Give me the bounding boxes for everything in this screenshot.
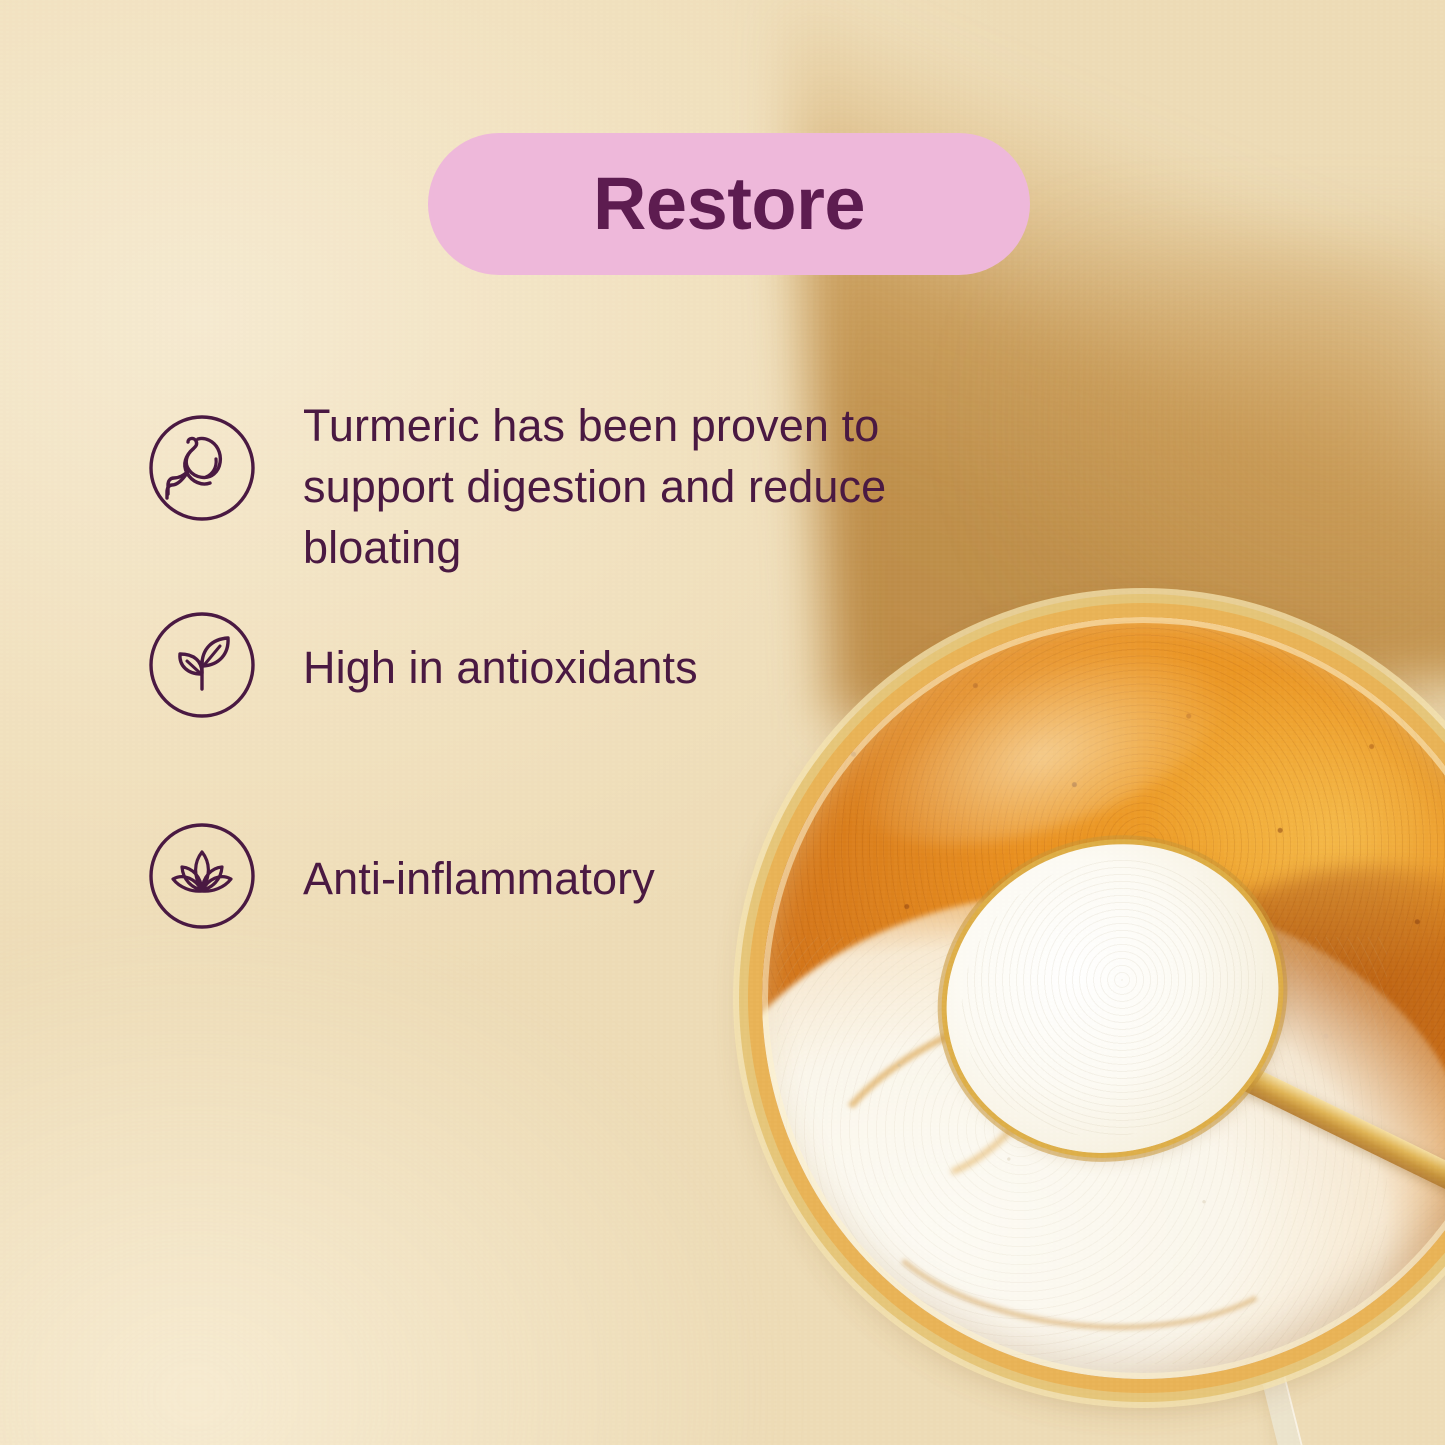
stomach-icon [148, 414, 256, 522]
leaf-sprout-icon [148, 611, 256, 719]
background-highlight-bottom-left [0, 905, 780, 1445]
lotus-flower-icon [148, 822, 256, 930]
background-shadow-soft [965, 240, 1445, 760]
benefit-item-digestion: Turmeric has been proven to support dige… [148, 395, 923, 579]
benefit-item-label: Anti-inflammatory [303, 848, 655, 909]
benefit-item-label: High in antioxidants [303, 637, 698, 698]
restore-badge-label: Restore [593, 167, 865, 241]
benefit-item-antioxidants: High in antioxidants [148, 611, 698, 719]
restore-badge: Restore [428, 133, 1030, 275]
promo-graphic: Restore Turmeric has been proven to supp… [0, 0, 1445, 1445]
benefit-item-anti-inflammatory: Anti-inflammatory [148, 822, 655, 930]
benefit-item-label: Turmeric has been proven to support dige… [303, 395, 923, 579]
